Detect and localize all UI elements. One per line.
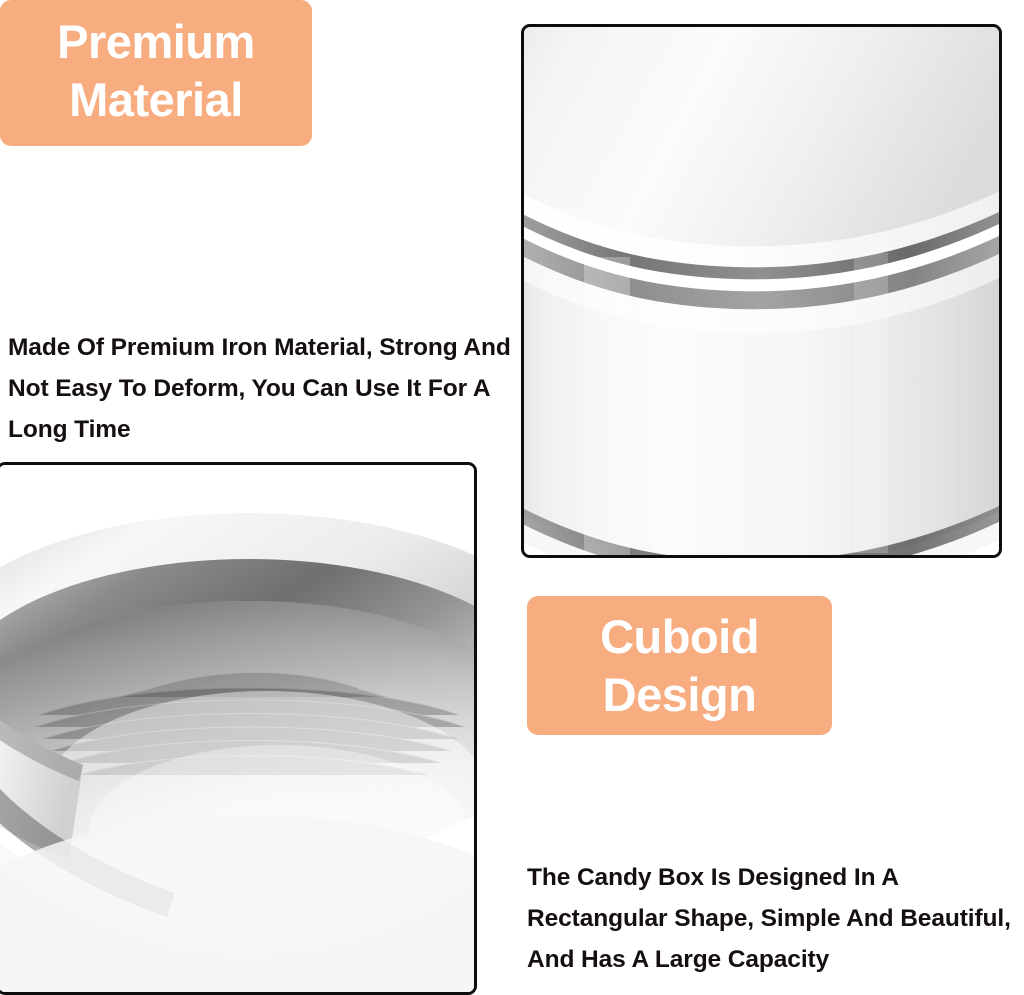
badge-premium-line-1: Premium — [57, 13, 255, 71]
badge-premium-material: Premium Material — [0, 0, 312, 146]
description-cuboid-design: The Candy Box Is Designed In A Rectangul… — [527, 857, 1024, 980]
description-premium-material: Made Of Premium Iron Material, Strong An… — [8, 327, 520, 450]
product-photo-closed-tin — [521, 24, 1002, 558]
badge-cuboid-line-2: Design — [603, 666, 757, 724]
product-photo-open-tin — [0, 462, 477, 995]
badge-cuboid-line-1: Cuboid — [600, 608, 759, 666]
open-tin-illustration — [0, 465, 474, 992]
infographic-canvas: Premium Material Made Of Premium Iron Ma… — [0, 0, 1024, 995]
closed-tin-illustration — [524, 27, 999, 555]
badge-premium-line-2: Material — [69, 71, 243, 129]
badge-cuboid-design: Cuboid Design — [527, 596, 832, 735]
